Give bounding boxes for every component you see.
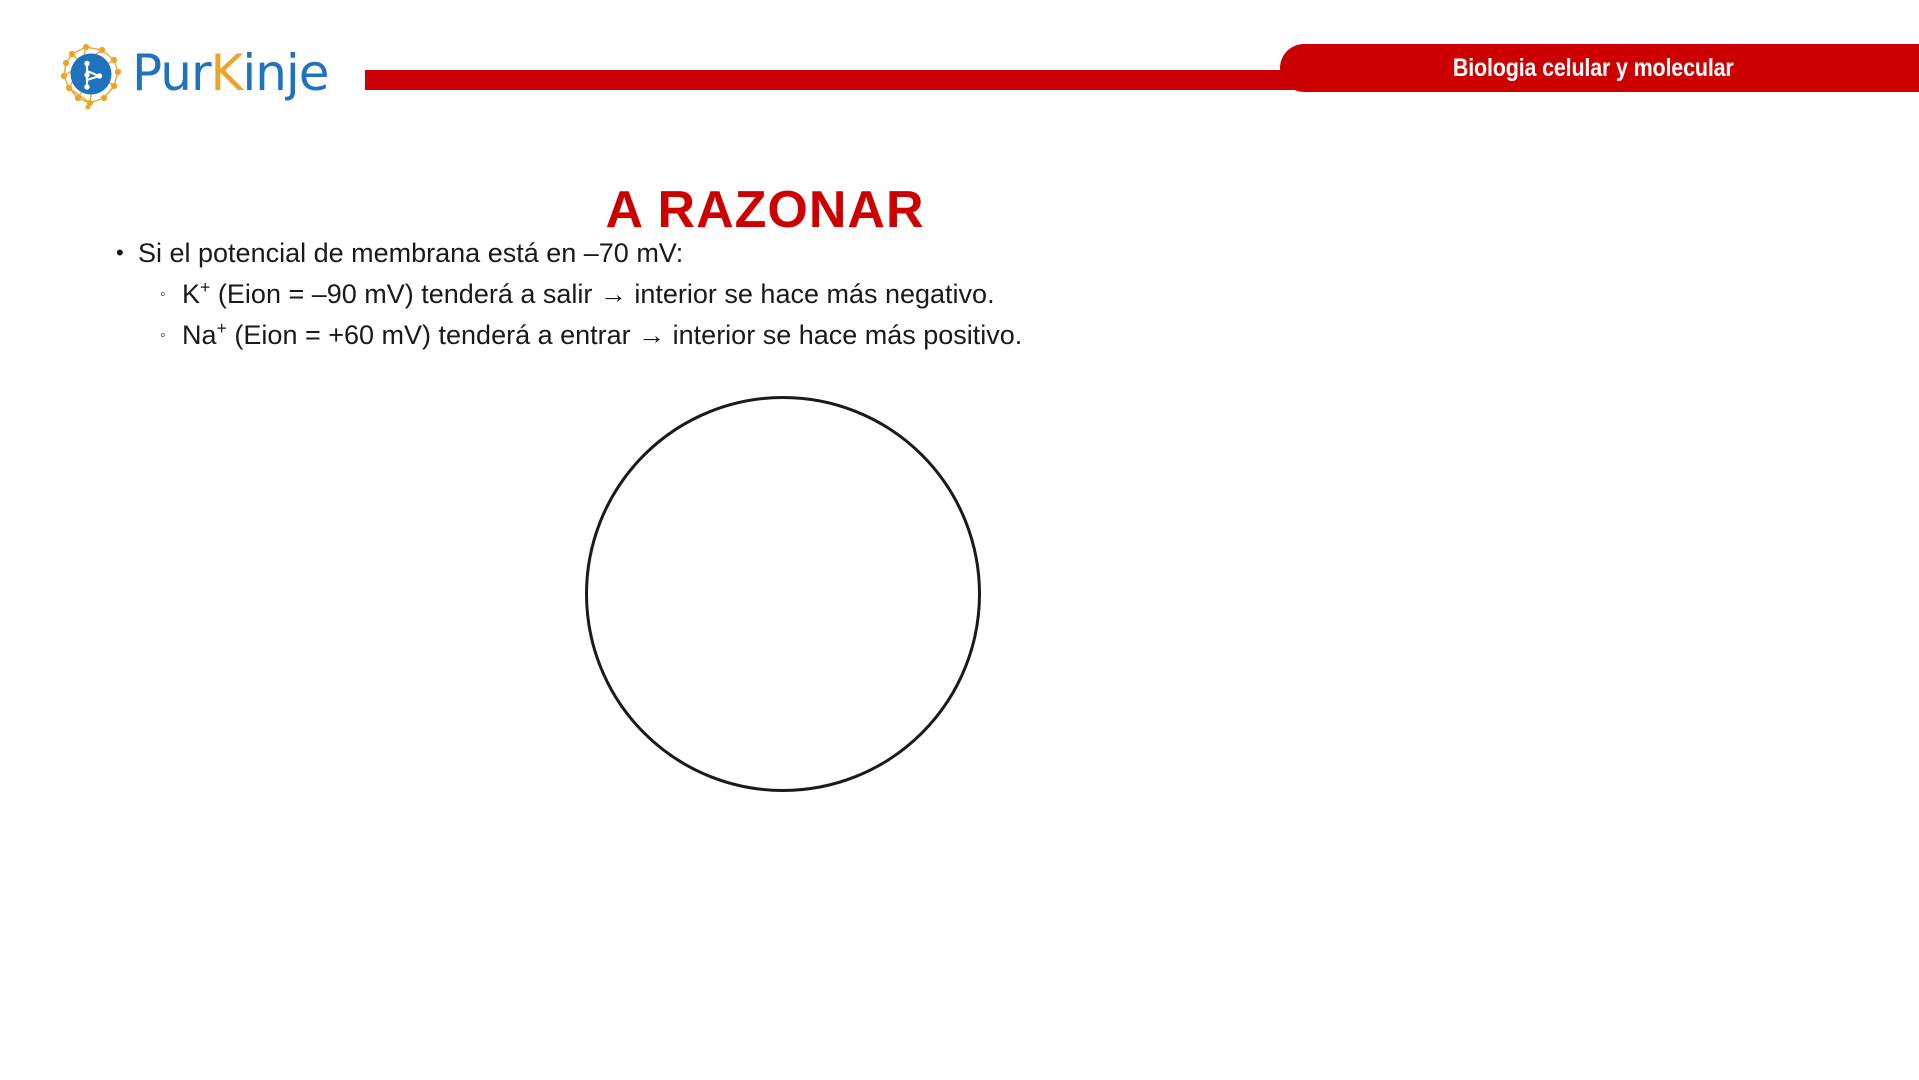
ion-label-k: K	[182, 279, 200, 309]
brand-logo[interactable]: PurKinje	[52, 38, 352, 110]
slide-header: Biologia celular y molecular	[0, 0, 1919, 130]
arrow-icon: →	[600, 279, 627, 309]
cell-outline-circle	[585, 396, 981, 792]
bullet-text-sodium-open: (Eion = +60 mV) tenderá a entrar	[227, 320, 638, 350]
ion-label-na: Na	[182, 320, 217, 350]
bullet-marker-circle: ◦	[160, 274, 166, 315]
bullet-text-potassium-open: (Eion = –90 mV) tenderá a salir	[210, 279, 599, 309]
purkinje-neuron-network-icon	[52, 38, 130, 110]
wordmark-accent-k: K	[211, 44, 243, 102]
bullet-item-potassium: ◦K+ (Eion = –90 mV) tenderá a salir → in…	[108, 274, 1408, 315]
brand-wordmark: PurKinje	[132, 40, 329, 106]
bullet-marker-circle: ◦	[160, 315, 166, 356]
bullet-text-potassium-close: interior se hace más negativo.	[627, 279, 995, 309]
arrow-icon: →	[638, 320, 665, 350]
wordmark-prefix: Pur	[132, 44, 211, 102]
bullet-item-premise: • Si el potencial de membrana está en –7…	[108, 232, 1408, 274]
ion-charge-na: +	[217, 318, 227, 338]
bullet-item-sodium: ◦Na+ (Eion = +60 mV) tenderá a entrar → …	[108, 315, 1408, 356]
slide-title: A RAZONAR	[0, 180, 1530, 240]
wordmark-suffix: inje	[242, 44, 328, 102]
bullet-marker-disc: •	[116, 232, 124, 274]
course-banner: Biologia celular y molecular	[1280, 44, 1919, 92]
ion-charge-k: +	[200, 277, 210, 297]
bullet-text-sodium-close: interior se hace más positivo.	[665, 320, 1022, 350]
bullet-text-premise: Si el potencial de membrana está en –70 …	[138, 238, 683, 268]
course-banner-label: Biologia celular y molecular	[1453, 54, 1734, 83]
bullet-list: • Si el potencial de membrana está en –7…	[108, 232, 1408, 356]
